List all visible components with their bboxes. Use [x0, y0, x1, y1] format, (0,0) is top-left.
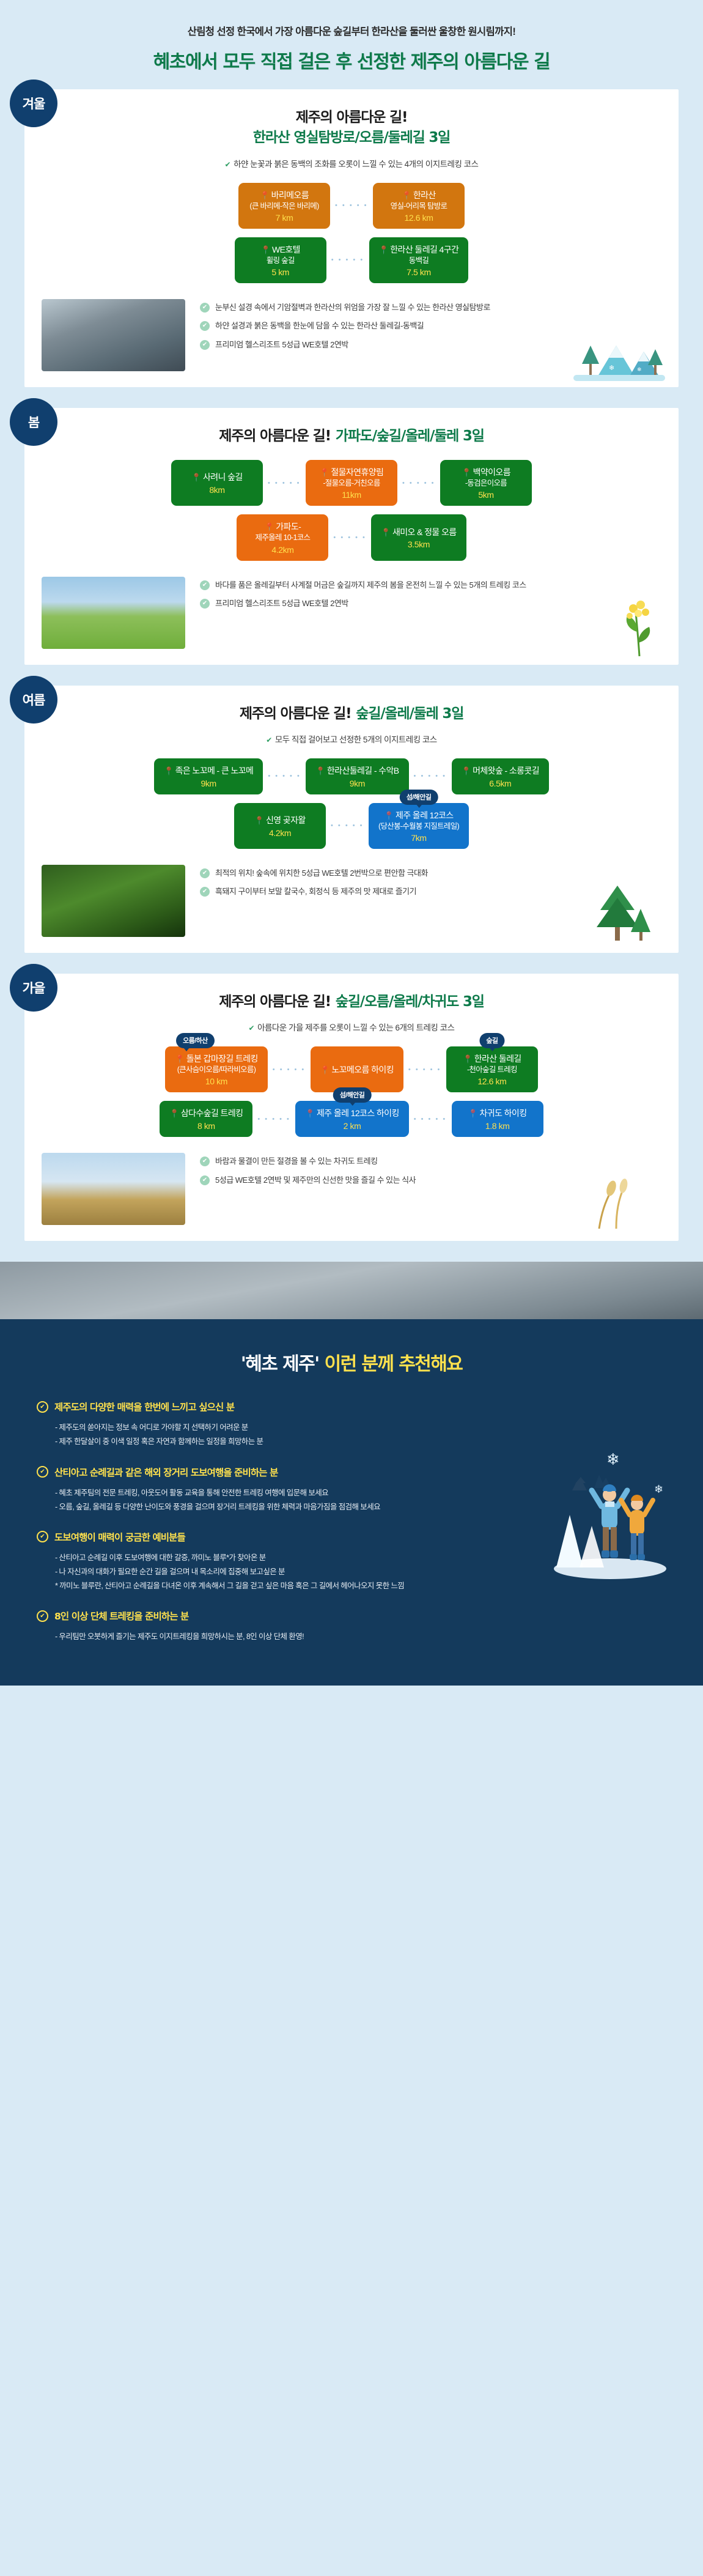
check-icon: ✔ — [200, 1157, 210, 1166]
course-name: 📍절물자연휴양림 — [315, 467, 388, 478]
cta-section: '혜초 제주' 이런 분께 추천해요 — [0, 1262, 703, 1686]
course-row: 📍가파도-제주올레 10-1코스4.2km• • • • •📍새미오 & 정물 … — [42, 514, 661, 560]
course-subtitle: -절물오름-거친오름 — [315, 478, 388, 488]
cta-group-detail: - 우리팀만 오붓하게 즐기는 제주도 이지트레킹을 희망하시는 분, 8인 이… — [37, 1630, 666, 1644]
course-distance: 8km — [181, 485, 253, 495]
bullet-text: 프리미엄 헬스리조트 5성급 WE호텔 2연박 — [215, 339, 348, 351]
cta-group: ✔도보여행이 매력이 궁금한 예비분들- 산티아고 순례길 이후 도보여행에 대… — [37, 1530, 666, 1593]
season-title-line2: 가파도/숲길/올레/둘레 3일 — [336, 428, 484, 444]
cta-group-detail: * 까미노 블루란, 산티아고 순례길을 다녀온 이후 계속해서 그 길을 걷고… — [37, 1579, 666, 1593]
bullet-text: 최적의 위치! 숲속에 위치한 5성급 WE호텔 2번박으로 편안함 극대화 — [215, 867, 428, 879]
connector-dots: • • • • • — [409, 772, 452, 780]
course-name: 📍바리메오름 — [248, 190, 320, 201]
course-name: 📍한라산 둘레길 — [456, 1053, 528, 1065]
course-subtitle: -천아숲길 트레킹 — [456, 1065, 528, 1075]
course-tag: 오름/하산 — [176, 1033, 215, 1048]
course-distance: 11km — [315, 490, 388, 500]
course-tag: 섬/해안길 — [333, 1087, 372, 1103]
season-lead-text: 모두 직접 걸어보고 선정한 5개의 이지트레킹 코스 — [275, 735, 437, 744]
connector-dots: • • • • • — [252, 1116, 295, 1123]
bullet-text: 바람과 물결이 만든 절경을 볼 수 있는 차귀도 트레킹 — [215, 1155, 378, 1168]
check-icon: ✔ — [200, 599, 210, 609]
course-rows: 📍족은 노꼬메 - 큰 노꼬메9km• • • • •📍한라산둘레길 - 수악B… — [42, 758, 661, 849]
cta-group: ✔제주도의 다양한 매력을 한번에 느끼고 싶으신 분- 제주도의 쏟아지는 정… — [37, 1400, 666, 1449]
info-block: ✔눈부신 설경 속에서 기암절벽과 한라산의 위엄을 가장 잘 느낄 수 있는 … — [42, 299, 661, 371]
course-distance: 3.5km — [381, 539, 456, 549]
course-row: 📍족은 노꼬메 - 큰 노꼬메9km• • • • •📍한라산둘레길 - 수악B… — [42, 758, 661, 794]
course-box[interactable]: 📍사려니 숲길8km — [171, 460, 263, 506]
season-card: 제주의 아름다운 길!한라산 영실탐방로/오름/둘레길 3일✔하얀 눈꽃과 붉은… — [24, 89, 679, 387]
season-section-0: 겨울제주의 아름다운 길!한라산 영실탐방로/오름/둘레길 3일✔하얀 눈꽃과 … — [24, 89, 679, 387]
course-subtitle: 휠링 숲길 — [245, 256, 317, 265]
pin-icon: 📍 — [175, 1054, 185, 1064]
course-name: 📍신영 곶자왈 — [244, 815, 316, 826]
course-name-text: 제주 올레 12코스 하이킹 — [317, 1108, 399, 1118]
course-name: 📍머체왓숲 - 소롱콧길 — [462, 765, 539, 777]
season-title: 제주의 아름다운 길!숲길/오름/올레/차귀도 3일 — [42, 992, 661, 1012]
season-card: 제주의 아름다운 길!숲길/올레/둘레 3일✔모두 직접 걸어보고 선정한 5개… — [24, 686, 679, 953]
course-distance: 7.5 km — [379, 267, 459, 277]
course-name-text: 한라산둘레길 - 수악B — [327, 766, 399, 775]
season-section-1: 봄제주의 아름다운 길!가파도/숲길/올레/둘레 3일📍사려니 숲길8km• •… — [24, 408, 679, 665]
check-icon: ✔ — [200, 303, 210, 313]
list-item: ✔바다를 품은 올레길부터 사계절 머금은 숲길까지 제주의 봄을 온전히 느낄… — [200, 579, 661, 591]
course-name-text: 백약이오름 — [473, 467, 510, 477]
list-item: ✔프리미엄 헬스리조트 5성급 WE호텔 2연박 — [200, 598, 661, 610]
course-distance: 7 km — [248, 213, 320, 223]
course-name: 📍가파도- — [246, 521, 318, 533]
season-title-line1: 제주의 아름다운 길! — [240, 706, 351, 722]
cta-group-detail: - 제주 한달살이 중 이색 일정 혹은 자연과 함께하는 일정을 희망하는 분 — [37, 1435, 666, 1449]
connector-dots: • • • • • — [326, 822, 369, 829]
course-name-text: 차귀도 하이킹 — [480, 1108, 527, 1118]
season-section-2: 여름제주의 아름다운 길!숲길/올레/둘레 3일✔모두 직접 걸어보고 선정한 … — [24, 686, 679, 953]
pin-icon: 📍 — [305, 1109, 315, 1118]
pin-icon: 📍 — [462, 468, 471, 477]
course-box[interactable]: 오름/하산📍돌본 갑마장길 트레킹(큰사슴이오름/따라비오름)10 km — [165, 1046, 268, 1092]
course-name: 📍새미오 & 정물 오름 — [381, 527, 456, 538]
course-name-text: 족은 노꼬메 - 큰 노꼬메 — [175, 766, 254, 775]
course-name-text: 돌본 갑마장길 트레킹 — [186, 1054, 258, 1064]
course-name: 📍돌본 갑마장길 트레킹 — [175, 1053, 258, 1065]
season-badge: 여름 — [10, 676, 57, 724]
course-name-text: 신영 곶자왈 — [266, 815, 306, 825]
course-distance: 4.2km — [244, 828, 316, 838]
connector-dots: • • • • • — [268, 1066, 311, 1073]
course-distance: 12.6 km — [456, 1076, 528, 1086]
check-icon: ✔ — [225, 160, 231, 169]
season-lead-text: 아름다운 가을 제주를 오롯이 느낄 수 있는 6개의 트레킹 코스 — [257, 1023, 454, 1032]
check-icon: ✔ — [200, 868, 210, 878]
check-icon: ✔ — [266, 736, 272, 744]
check-icon: ✔ — [200, 340, 210, 350]
course-name: 📍백약이오름 — [450, 467, 522, 478]
course-distance: 12.6 km — [383, 213, 455, 223]
cta-group-title: 산티아고 순례길과 같은 해외 장거리 도보여행을 준비하는 분 — [54, 1465, 278, 1479]
pin-icon: 📍 — [169, 1109, 179, 1118]
check-icon: ✔ — [37, 1531, 48, 1542]
svg-text:❄: ❄ — [609, 365, 614, 372]
hero-header: 산림청 선정 한국에서 가장 아름다운 숲길부터 한라산을 둘러싼 울창한 원시… — [0, 0, 703, 89]
course-name: 📍한라산둘레길 - 수악B — [315, 765, 399, 777]
list-item: ✔하얀 설경과 붉은 동백을 한눈에 담을 수 있는 한라산 둘레길-동백길 — [200, 320, 661, 332]
course-name: 📍한라산 둘레길 4구간 — [379, 244, 459, 256]
bullet-list: ✔바다를 품은 올레길부터 사계절 머금은 숲길까지 제주의 봄을 온전히 느낄… — [200, 577, 661, 616]
season-badge: 가을 — [10, 964, 57, 1012]
course-name: 📍차귀도 하이킹 — [462, 1108, 534, 1119]
cta-group-head: ✔8인 이상 단체 트레킹을 준비하는 분 — [37, 1609, 666, 1623]
course-box[interactable]: 📍머체왓숲 - 소롱콧길6.5km — [452, 758, 549, 794]
connector-dots: • • • • • — [403, 1066, 446, 1073]
check-icon: ✔ — [200, 887, 210, 897]
course-box[interactable]: 📍바리메오름(큰 바리메-작은 바리메)7 km — [238, 183, 330, 229]
course-distance: 4.2km — [246, 545, 318, 555]
course-distance: 5km — [450, 490, 522, 500]
pin-icon: 📍 — [320, 468, 329, 477]
course-row: 📍삼다수숲길 트레킹8 km• • • • •섬/해안길📍제주 올레 12코스 … — [42, 1101, 661, 1137]
pin-icon: 📍 — [164, 766, 174, 775]
pin-icon: 📍 — [260, 245, 270, 254]
course-box[interactable]: 📍신영 곶자왈4.2km — [234, 803, 326, 849]
course-rows: 오름/하산📍돌본 갑마장길 트레킹(큰사슴이오름/따라비오름)10 km• • … — [42, 1046, 661, 1137]
course-box[interactable]: 📍WE호텔휠링 숲길5 km — [235, 237, 326, 283]
info-block: ✔바람과 물결이 만든 절경을 볼 수 있는 차귀도 트레킹✔5성급 WE호텔 … — [42, 1153, 661, 1225]
course-name-text: 삼다수숲길 트레킹 — [181, 1108, 243, 1118]
course-box[interactable]: 📍백약이오름-동검은이오름5km — [440, 460, 532, 506]
course-box[interactable]: 섬/해안길📍제주 올레 12코스(당산봉-수월봉 지질트레일)7km — [369, 803, 469, 849]
cta-title-rest: 이런 분께 추천해요 — [325, 1353, 463, 1375]
course-row: 오름/하산📍돌본 갑마장길 트레킹(큰사슴이오름/따라비오름)10 km• • … — [42, 1046, 661, 1092]
course-subtitle: (큰사슴이오름/따라비오름) — [175, 1065, 258, 1075]
course-row: 📍바리메오름(큰 바리메-작은 바리메)7 km• • • • •📍한라산영실-… — [42, 183, 661, 229]
cta-group-title: 도보여행이 매력이 궁금한 예비분들 — [54, 1530, 185, 1544]
bullet-text: 흑돼지 구이부터 보말 칼국수, 회정식 등 제주의 맛 제대로 즐기기 — [215, 886, 416, 898]
course-name: 📍한라산 — [383, 190, 455, 201]
season-photo — [42, 865, 185, 937]
course-name-text: 한라산 둘레길 — [474, 1054, 521, 1064]
bullet-text: 눈부신 설경 속에서 기암절벽과 한라산의 위엄을 가장 잘 느낄 수 있는 한… — [215, 302, 490, 314]
course-name-text: 한라산 — [413, 190, 436, 200]
connector-dots: • • • • • — [397, 479, 440, 487]
course-box[interactable]: 📍족은 노꼬메 - 큰 노꼬메9km — [154, 758, 263, 794]
cta-group-detail: - 나 자신과의 대화가 필요한 순간 길을 걸으며 내 목소리에 집중해 보고… — [37, 1565, 666, 1579]
season-title: 제주의 아름다운 길!숲길/올레/둘레 3일 — [42, 704, 661, 724]
info-block: ✔최적의 위치! 숲속에 위치한 5성급 WE호텔 2번박으로 편안함 극대화✔… — [42, 865, 661, 937]
pin-icon: 📍 — [468, 1109, 478, 1118]
check-icon: ✔ — [37, 1401, 48, 1413]
course-subtitle: 제주올레 10-1코스 — [246, 533, 318, 542]
course-name: 📍사려니 숲길 — [181, 472, 253, 483]
course-box[interactable]: 숲길📍한라산 둘레길-천아숲길 트레킹12.6 km — [446, 1046, 538, 1092]
bullet-text: 바다를 품은 올레길부터 사계절 머금은 숲길까지 제주의 봄을 온전히 느낄 … — [215, 579, 526, 591]
connector-dots: • • • • • — [330, 202, 373, 209]
list-item: ✔눈부신 설경 속에서 기암절벽과 한라산의 위엄을 가장 잘 느낄 수 있는 … — [200, 302, 661, 314]
course-rows: 📍사려니 숲길8km• • • • •📍절물자연휴양림-절물오름-거친오름11k… — [42, 460, 661, 560]
cta-group-detail: - 제주도의 쏟아지는 정보 속 어디로 가야할 지 선택하기 어려운 분 — [37, 1421, 666, 1435]
pin-icon: 📍 — [315, 766, 325, 775]
course-box[interactable]: 📍가파도-제주올레 10-1코스4.2km — [237, 514, 328, 560]
course-distance: 1.8 km — [462, 1121, 534, 1131]
season-title: 제주의 아름다운 길!가파도/숲길/올레/둘레 3일 — [42, 426, 661, 446]
pin-icon: 📍 — [191, 473, 201, 482]
pin-icon: 📍 — [402, 191, 411, 200]
course-name-text: 바리메오름 — [271, 190, 309, 200]
course-name-text: 제주 올레 12코스 — [396, 810, 454, 820]
season-title-line2: 한라산 영실탐방로/오름/둘레길 3일 — [42, 128, 661, 148]
course-rows: 📍바리메오름(큰 바리메-작은 바리메)7 km• • • • •📍한라산영실-… — [42, 183, 661, 283]
course-distance: 2 km — [305, 1121, 399, 1131]
pin-icon: 📍 — [462, 766, 471, 775]
hero-subtitle: 산림청 선정 한국에서 가장 아름다운 숲길부터 한라산을 둘러싼 울창한 원시… — [0, 23, 703, 38]
check-icon: ✔ — [37, 1466, 48, 1478]
cta-group-detail: - 산티아고 순례길 이후 도보여행에 대한 갈증, 까미노 블루*가 찾아온 … — [37, 1551, 666, 1565]
bullet-text: 하얀 설경과 붉은 동백을 한눈에 담을 수 있는 한라산 둘레길-동백길 — [215, 320, 424, 332]
course-box[interactable]: 📍새미오 & 정물 오름3.5km — [371, 514, 466, 560]
check-icon: ✔ — [37, 1610, 48, 1622]
cta-group-head: ✔산티아고 순례길과 같은 해외 장거리 도보여행을 준비하는 분 — [37, 1465, 666, 1479]
cta-title-quote: '혜초 제주' — [241, 1353, 319, 1375]
course-name-text: 사려니 숲길 — [203, 472, 243, 482]
course-distance: 7km — [378, 833, 459, 843]
course-row: 📍WE호텔휠링 숲길5 km• • • • •📍한라산 둘레길 4구간동백길7.… — [42, 237, 661, 283]
course-name-text: 머체왓숲 - 소롱콧길 — [473, 766, 539, 775]
course-distance: 10 km — [175, 1076, 258, 1086]
check-icon: ✔ — [249, 1024, 255, 1032]
season-badge: 봄 — [10, 398, 57, 446]
season-photo — [42, 299, 185, 371]
course-box[interactable]: 📍한라산 둘레길 4구간동백길7.5 km — [369, 237, 469, 283]
course-distance: 8 km — [169, 1121, 243, 1131]
course-distance: 6.5km — [462, 779, 539, 788]
connector-dots: • • • • • — [263, 479, 306, 487]
course-row: 📍신영 곶자왈4.2km• • • • •섬/해안길📍제주 올레 12코스(당산… — [42, 803, 661, 849]
course-subtitle: 영실-어리목 탐방로 — [383, 201, 455, 211]
course-name: 📍족은 노꼬메 - 큰 노꼬메 — [164, 765, 253, 777]
season-lead-text: 하얀 눈꽃과 붉은 동백의 조화를 오롯이 느낄 수 있는 4개의 이지트레킹 … — [234, 160, 478, 169]
pine-tree-illustration — [581, 882, 654, 943]
course-name: 📍삼다수숲길 트레킹 — [169, 1108, 243, 1119]
pin-icon: 📍 — [384, 811, 394, 820]
connector-dots: • • • • • — [326, 256, 369, 264]
cta-group: ✔8인 이상 단체 트레킹을 준비하는 분- 우리팀만 오붓하게 즐기는 제주도… — [37, 1609, 666, 1644]
season-lead: ✔모두 직접 걸어보고 선정한 5개의 이지트레킹 코스 — [42, 733, 661, 745]
course-row: 📍사려니 숲길8km• • • • •📍절물자연휴양림-절물오름-거친오름11k… — [42, 460, 661, 506]
canola-flower-illustration — [615, 595, 664, 656]
cta-group-title: 제주도의 다양한 매력을 한번에 느끼고 싶으신 분 — [54, 1400, 234, 1413]
bullet-text: 5성급 WE호텔 2연박 및 제주만의 신선한 맛을 즐길 수 있는 식사 — [215, 1174, 416, 1186]
course-box[interactable]: 섬/해안길📍제주 올레 12코스 하이킹2 km — [295, 1101, 408, 1137]
cta-group-detail: - 오름, 숲길, 올레길 등 다양한 난이도와 풍경을 걸으며 장거리 트레킹… — [37, 1500, 666, 1514]
connector-dots: • • • • • — [409, 1116, 452, 1123]
pin-icon: 📍 — [254, 816, 264, 825]
pin-icon: 📍 — [320, 1065, 330, 1075]
season-lead: ✔아름다운 가을 제주를 오롯이 느낄 수 있는 6개의 트레킹 코스 — [42, 1021, 661, 1033]
course-name-text: 절물자연휴양림 — [331, 467, 383, 477]
course-box[interactable]: 📍한라산영실-어리목 탐방로12.6 km — [373, 183, 465, 229]
course-name-text: WE호텔 — [272, 245, 300, 254]
bullet-text: 프리미엄 헬스리조트 5성급 WE호텔 2연박 — [215, 598, 348, 610]
course-box[interactable]: 📍삼다수숲길 트레킹8 km — [160, 1101, 252, 1137]
pin-icon: 📍 — [260, 191, 270, 200]
course-name: 📍제주 올레 12코스 — [378, 810, 459, 821]
course-name-text: 한라산 둘레길 4구간 — [390, 245, 458, 254]
season-photo — [42, 1153, 185, 1225]
course-name: 📍WE호텔 — [245, 244, 317, 256]
course-tag: 섬/해안길 — [400, 790, 438, 805]
course-box[interactable]: 📍한라산둘레길 - 수악B9km — [306, 758, 408, 794]
course-name: 📍노꼬메오름 하이킹 — [320, 1064, 394, 1076]
season-title: 제주의 아름다운 길!한라산 영실탐방로/오름/둘레길 3일 — [42, 108, 661, 149]
course-box[interactable]: 📍절물자연휴양림-절물오름-거친오름11km — [306, 460, 397, 506]
course-subtitle: (큰 바리메-작은 바리메) — [248, 201, 320, 211]
check-icon: ✔ — [200, 1175, 210, 1185]
season-photo — [42, 577, 185, 649]
course-name-text: 가파도- — [276, 522, 301, 531]
season-title-line2: 숲길/올레/둘레 3일 — [356, 706, 463, 722]
connector-dots: • • • • • — [328, 534, 371, 541]
pin-icon: 📍 — [463, 1054, 473, 1064]
connector-dots: • • • • • — [263, 772, 306, 780]
list-item: ✔바람과 물결이 만든 절경을 볼 수 있는 차귀도 트레킹 — [200, 1155, 661, 1168]
season-title-line2: 숲길/오름/올레/차귀도 3일 — [336, 994, 484, 1010]
list-item: ✔최적의 위치! 숲속에 위치한 5성급 WE호텔 2번박으로 편안함 극대화 — [200, 867, 661, 879]
season-title-line1: 제주의 아름다운 길! — [219, 428, 331, 444]
winter-mountain-illustration: ❄❄ — [573, 332, 665, 381]
season-sections: 겨울제주의 아름다운 길!한라산 영실탐방로/오름/둘레길 3일✔하얀 눈꽃과 … — [0, 89, 703, 1241]
pin-icon: 📍 — [381, 528, 391, 537]
check-icon: ✔ — [200, 580, 210, 590]
info-block: ✔바다를 품은 올레길부터 사계절 머금은 숲길까지 제주의 봄을 온전히 느낄… — [42, 577, 661, 649]
svg-text:❄: ❄ — [637, 366, 642, 372]
course-distance: 9km — [315, 779, 399, 788]
course-tag: 숲길 — [479, 1033, 504, 1048]
season-lead: ✔하얀 눈꽃과 붉은 동백의 조화를 오롯이 느낄 수 있는 4개의 이지트레킹… — [42, 157, 661, 169]
course-subtitle: (당산봉-수월봉 지질트레일) — [378, 821, 459, 831]
pin-icon: 📍 — [379, 245, 389, 254]
season-section-3: 가을제주의 아름다운 길!숲길/오름/올레/차귀도 3일✔아름다운 가을 제주를… — [24, 974, 679, 1241]
season-title-line1: 제주의 아름다운 길! — [296, 109, 408, 125]
course-distance: 9km — [164, 779, 253, 788]
course-name-text: 새미오 & 정물 오름 — [392, 527, 457, 537]
season-title-line1: 제주의 아름다운 길! — [219, 994, 331, 1010]
season-card: 제주의 아름다운 길!숲길/오름/올레/차귀도 3일✔아름다운 가을 제주를 오… — [24, 974, 679, 1241]
cta-group-title: 8인 이상 단체 트레킹을 준비하는 분 — [54, 1609, 188, 1623]
cta-group-detail: - 혜초 제주팀의 전문 트레킹, 아웃도어 활동 교육을 통해 안전한 트레킹… — [37, 1486, 666, 1500]
autumn-grass-illustration — [581, 1170, 654, 1231]
course-box[interactable]: 📍노꼬메오름 하이킹 — [311, 1046, 403, 1092]
cta-group: ✔산티아고 순례길과 같은 해외 장거리 도보여행을 준비하는 분- 혜초 제주… — [37, 1465, 666, 1514]
infographic-page: 산림청 선정 한국에서 가장 아름다운 숲길부터 한라산을 둘러싼 울창한 원시… — [0, 0, 703, 1686]
course-subtitle: -동검은이오름 — [450, 478, 522, 488]
season-badge: 겨울 — [10, 80, 57, 127]
pin-icon: 📍 — [265, 522, 274, 531]
cta-title: '혜초 제주' 이런 분께 추천해요 — [37, 1349, 666, 1375]
season-card: 제주의 아름다운 길!가파도/숲길/올레/둘레 3일📍사려니 숲길8km• • … — [24, 408, 679, 665]
check-icon: ✔ — [200, 321, 210, 331]
cta-group-head: ✔도보여행이 매력이 궁금한 예비분들 — [37, 1530, 666, 1544]
cta-group-head: ✔제주도의 다양한 매력을 한번에 느끼고 싶으신 분 — [37, 1400, 666, 1413]
course-distance: 5 km — [245, 267, 317, 277]
hero-title: 혜초에서 모두 직접 걸은 후 선정한 제주의 아름다운 길 — [0, 46, 703, 73]
course-name-text: 노꼬메오름 하이킹 — [331, 1065, 394, 1075]
course-subtitle: 동백길 — [379, 256, 459, 265]
course-box[interactable]: 📍차귀도 하이킹1.8 km — [452, 1101, 543, 1137]
cta-photo — [0, 1262, 703, 1319]
course-name: 📍제주 올레 12코스 하이킹 — [305, 1108, 399, 1119]
